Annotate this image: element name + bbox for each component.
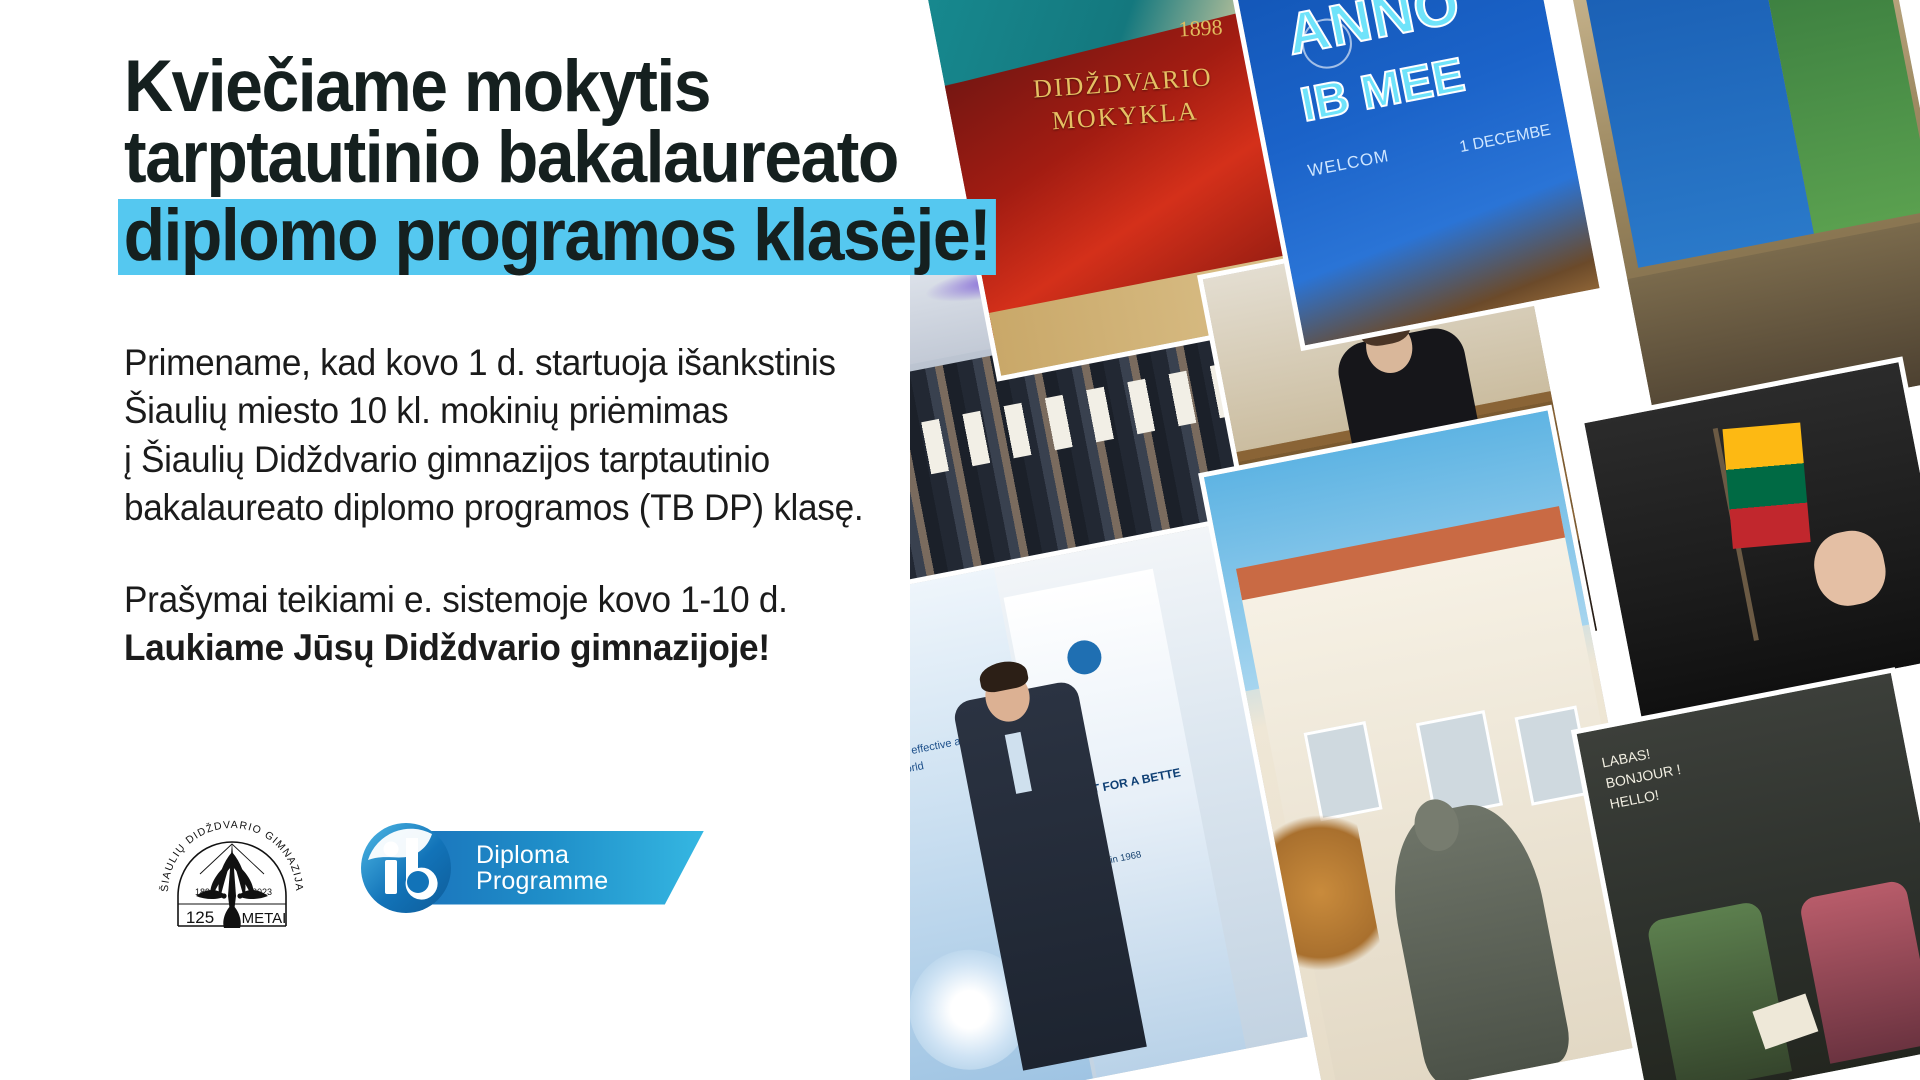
headline-line-2: tarptautinio bakalaureato xyxy=(124,123,1054,194)
body-line-1: Primename, kad kovo 1 d. startuoja išank… xyxy=(124,339,960,387)
ib-anno-welcome: WELCOM xyxy=(1306,146,1391,181)
lithuanian-flag-photo xyxy=(1584,362,1920,718)
body-line-2: Šiaulių miesto 10 kl. mokinių priėmimas xyxy=(124,387,960,435)
headline: Kviečiame mokytis tarptautinio bakalaure… xyxy=(124,52,1124,275)
headline-line-1: Kviečiame mokytis xyxy=(124,52,1054,123)
body-line-3: į Šiaulių Didždvario gimnazijos tarptaut… xyxy=(124,436,960,484)
ib-anno-date: 1 DECEMBE xyxy=(1458,122,1552,157)
ib-anno-title: ANNO xyxy=(1282,0,1546,63)
headline-line-3-highlighted: diplomo programos klasėje! xyxy=(118,199,996,276)
poster-root: students for effective a rapidly evolvin… xyxy=(0,0,1920,1080)
text-panel: Kviečiame mokytis tarptautinio bakalaure… xyxy=(0,0,1060,1080)
body-copy: Primename, kad kovo 1 d. startuoja išank… xyxy=(124,339,1004,672)
flag-year: 1898 xyxy=(1178,14,1223,42)
body-line-6-bold: Laukiame Jūsų Didždvario gimnazijoje! xyxy=(124,624,960,672)
body-line-4: bakalaureato diplomo programos (TB DP) k… xyxy=(124,484,960,532)
body-line-5: Prašymai teikiami e. sistemoje kovo 1-10… xyxy=(124,576,960,624)
